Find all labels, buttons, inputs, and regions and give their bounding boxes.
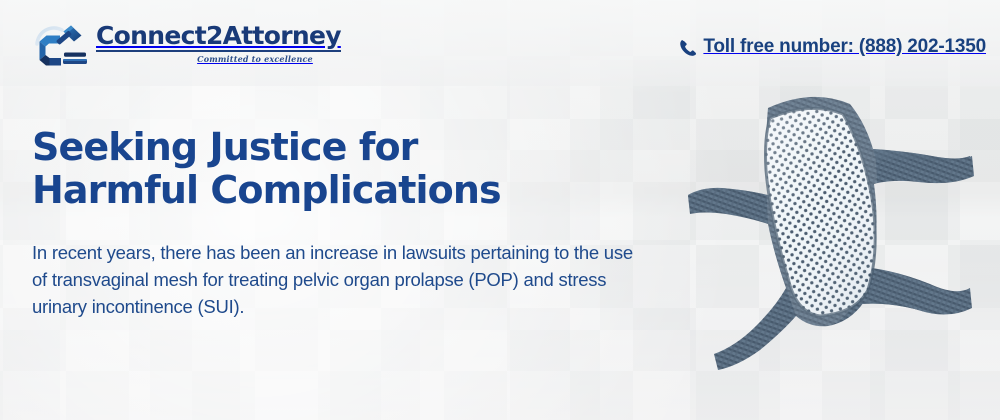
hero-banner: Connect2Attorney Committed to excellence… xyxy=(0,0,1000,420)
gavel-c-logo-icon xyxy=(30,22,88,70)
phone-number-label: Toll free number: (888) 202-1350 xyxy=(703,36,986,58)
brand-tagline: Committed to excellence xyxy=(197,54,313,64)
brand-logo-link[interactable]: Connect2Attorney Committed to excellence xyxy=(30,20,341,70)
site-header: Connect2Attorney Committed to excellence… xyxy=(0,0,1000,86)
brand-logo-text: Connect2Attorney Committed to excellence xyxy=(96,20,341,64)
hero-content: Seeking Justice for Harmful Complication… xyxy=(32,126,652,320)
hero-description: In recent years, there has been an incre… xyxy=(32,239,638,320)
brand-underline xyxy=(96,50,341,52)
page-title: Seeking Justice for Harmful Complication… xyxy=(32,126,592,212)
brand-name: Connect2Attorney xyxy=(96,23,341,48)
phone-handset-icon xyxy=(679,39,696,56)
toll-free-phone-link[interactable]: Toll free number: (888) 202-1350 xyxy=(679,36,986,58)
transvaginal-mesh-implant-image xyxy=(660,78,1000,420)
